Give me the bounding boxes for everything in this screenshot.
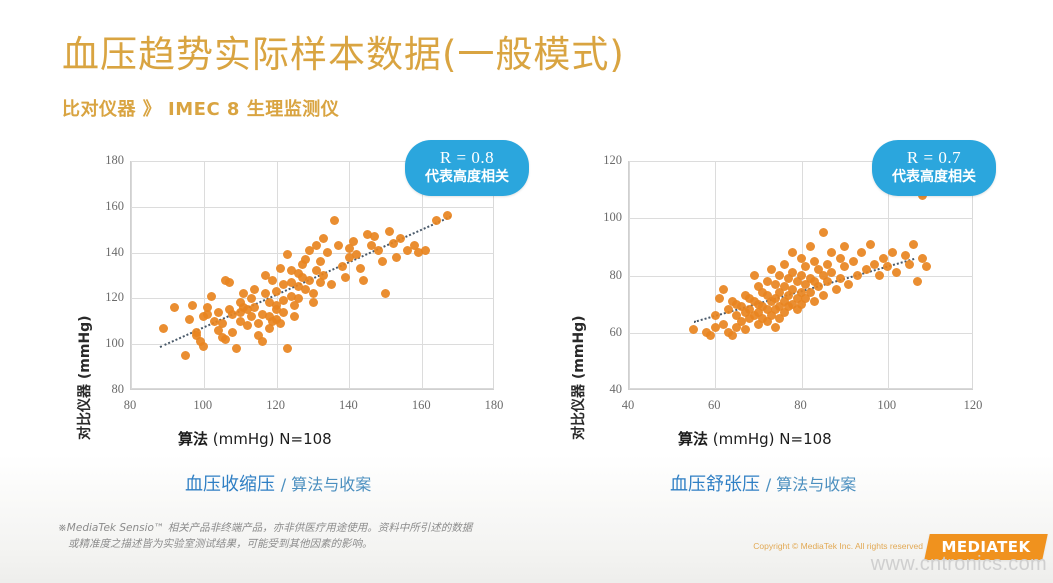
scatter-point [905,260,914,269]
scatter-point [218,319,227,328]
scatter-point [797,271,806,280]
scatter-point [750,271,759,280]
y-tick-label: 60 [576,325,622,340]
badge-note: 代表高度相关 [892,168,976,187]
scatter-point [836,274,845,283]
scatter-point [711,311,720,320]
scatter-point [866,240,875,249]
scatter-point [810,297,819,306]
scatter-point [849,257,858,266]
x-axis-label-diastolic: 算法 (mmHg) N=108 [678,428,832,449]
x-tick-label: 160 [399,398,443,413]
scatter-point [771,323,780,332]
scatter-point [356,264,365,273]
scatter-point [309,289,318,298]
x-axis-label-systolic: 算法 (mmHg) N=108 [178,428,332,449]
scatter-point [203,303,212,312]
x-axis-label-rest: (mmHg) N=108 [713,430,832,448]
chart-caption-systolic: 血压收缩压 / 算法与收案 [185,470,371,496]
scatter-point [225,278,234,287]
gridline-horizontal [131,344,494,345]
scatter-point [892,268,901,277]
scatter-point [780,260,789,269]
caption-main: 血压收缩压 [185,474,275,495]
x-tick-label: 100 [181,398,225,413]
chart-caption-diastolic: 血压舒张压 / 算法与收案 [670,470,856,496]
scatter-point [349,237,358,246]
scatter-point [819,228,828,237]
scatter-point [279,308,288,317]
y-tick-label: 80 [576,268,622,283]
scatter-point [875,271,884,280]
scatter-point [823,277,832,286]
scatter-point [250,285,259,294]
x-tick-label: 100 [865,398,909,413]
scatter-point [327,280,336,289]
scatter-point [715,294,724,303]
scatter-point [214,308,223,317]
y-tick-label: 100 [576,210,622,225]
scatter-point [392,253,401,262]
scatter-point [207,292,216,301]
y-tick-label: 180 [78,153,124,168]
chart-panel-systolic: 对比仪器 (mmHg) R = 0.8 代表高度相关 算法 (mmHg) N=1… [60,150,530,460]
x-tick-label: 120 [951,398,995,413]
page-subtitle: 比对仪器 》 IMEC 8 生理监测仪 [62,95,339,121]
scatter-point [258,337,267,346]
footnote-line-1: ※MediaTek Sensio™ 相关产品非终端产品，亦非供医疗用途使用。资料… [58,520,528,536]
scatter-point [832,285,841,294]
footnote-line-2: 或精准度之描述皆为实验室测试结果，可能受到其他因素的影响。 [58,536,528,552]
caption-main: 血压舒张压 [670,474,760,495]
scatter-point [806,288,815,297]
badge-note: 代表高度相关 [425,168,509,187]
scatter-point [276,319,285,328]
correlation-badge-systolic: R = 0.8 代表高度相关 [405,140,529,196]
scatter-point [338,262,347,271]
scatter-point [806,242,815,251]
page-title: 血压趋势实际样本数据(一般模式) [62,33,625,77]
scatter-point [185,315,194,324]
x-axis-label-bold: 算法 [678,430,708,448]
chart-panel-diastolic: 对比仪器 (mmHg) R = 0.7 代表高度相关 算法 (mmHg) N=1… [560,150,1000,460]
scatter-point [247,294,256,303]
footnote: ※MediaTek Sensio™ 相关产品非终端产品，亦非供医疗用途使用。资料… [58,520,528,552]
scatter-point [159,324,168,333]
x-tick-label: 140 [326,398,370,413]
scatter-point [819,291,828,300]
x-tick-label: 60 [692,398,736,413]
caption-sub: / 算法与收案 [281,475,371,494]
gridline-vertical [422,161,423,389]
scatter-point [862,265,871,274]
y-tick-label: 160 [78,199,124,214]
y-axis-label-systolic: 对比仪器 (mmHg) [74,315,94,440]
correlation-badge-diastolic: R = 0.7 代表高度相关 [872,140,996,196]
copyright-text: Copyright © MediaTek Inc. All rights res… [753,541,923,551]
slide-root: 血压趋势实际样本数据(一般模式) 比对仪器 》 IMEC 8 生理监测仪 对比仪… [0,0,1053,583]
x-tick-label: 120 [254,398,298,413]
scatter-point [374,246,383,255]
y-tick-label: 40 [576,382,622,397]
x-tick-label: 40 [606,398,650,413]
badge-r-value: R = 0.8 [425,147,509,168]
y-tick-label: 120 [78,290,124,305]
badge-r-value: R = 0.7 [892,147,976,168]
scatter-point [844,280,853,289]
scatter-point [276,264,285,273]
scatter-point [305,276,314,285]
caption-sub: / 算法与收案 [766,475,856,494]
scatter-point [254,319,263,328]
gridline-vertical [888,161,889,389]
y-tick-label: 140 [78,245,124,260]
scatter-point [316,257,325,266]
gridline-vertical [277,161,278,389]
y-tick-label: 80 [78,382,124,397]
scatter-point [378,257,387,266]
scatter-point [909,240,918,249]
gridline-vertical [204,161,205,389]
x-tick-label: 80 [779,398,823,413]
y-tick-label: 120 [576,153,622,168]
scatter-point [853,271,862,280]
x-axis-label-bold: 算法 [178,430,208,448]
site-watermark: www.cntronics.com [871,553,1047,576]
scatter-point [870,260,879,269]
gridline-vertical [715,161,716,389]
scatter-point [309,298,318,307]
scatter-point [901,251,910,260]
scatter-point [888,248,897,257]
x-tick-label: 80 [108,398,152,413]
x-tick-label: 180 [472,398,516,413]
scatter-point [294,294,303,303]
x-axis-label-rest: (mmHg) N=108 [213,430,332,448]
gridline-horizontal [131,207,494,208]
y-tick-label: 100 [78,336,124,351]
